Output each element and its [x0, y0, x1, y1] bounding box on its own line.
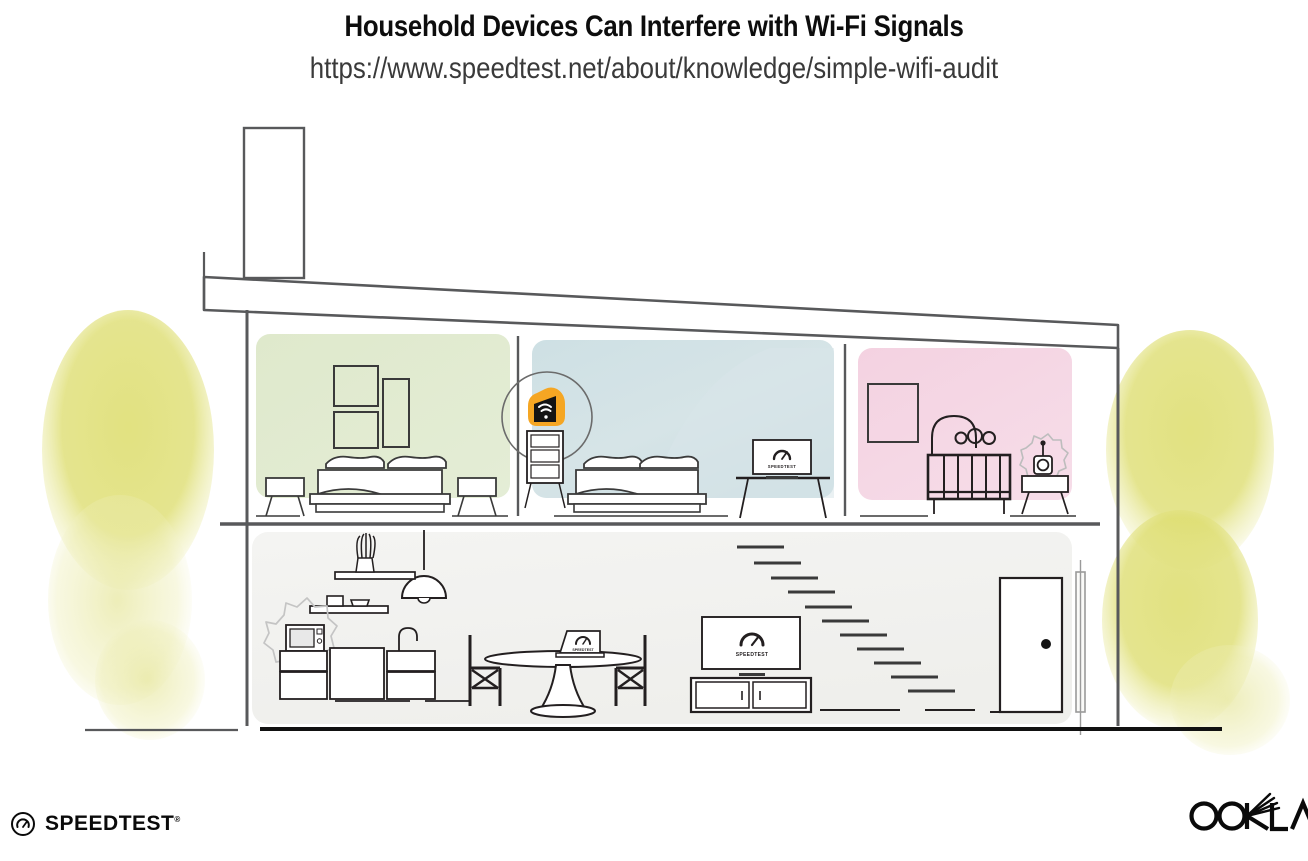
door-knob[interactable]: [1041, 639, 1051, 649]
speedtest-logo: SPEEDTEST®: [10, 811, 181, 837]
bed: [568, 457, 706, 512]
chimney: [244, 128, 304, 278]
foliage-left: [42, 310, 214, 740]
screen-label: SPEEDTEST: [768, 464, 797, 469]
screen-label: SPEEDTEST: [736, 652, 768, 658]
room-ground-floor: SPEEDTEST: [252, 530, 1085, 735]
ookla-logo: [1184, 792, 1308, 839]
room-pink-nursery: [858, 348, 1076, 516]
ookla-logo-mark: [1184, 792, 1308, 834]
bed: [310, 457, 450, 512]
footer: SPEEDTEST®: [0, 791, 1308, 861]
house-cutaway-illustration: SPEEDTEST: [0, 0, 1308, 861]
front-door[interactable]: [990, 578, 1062, 712]
room-blue-bedroom: SPEEDTEST: [502, 340, 845, 518]
screen-label: SPEEDTEST: [572, 648, 594, 652]
microwave[interactable]: [286, 625, 324, 651]
monitor-speedtest[interactable]: SPEEDTEST: [753, 440, 811, 479]
room-green-bedroom: [256, 334, 518, 516]
media-console: [691, 678, 811, 712]
foliage-right: [1102, 330, 1290, 755]
trademark-symbol: ®: [174, 815, 180, 824]
roof: [204, 252, 1118, 348]
speedtest-gauge-icon: [10, 811, 36, 837]
speedtest-wordmark: SPEEDTEST®: [45, 812, 181, 836]
television-speedtest[interactable]: SPEEDTEST: [702, 617, 800, 676]
infographic-canvas: Household Devices Can Interfere with Wi-…: [0, 0, 1308, 861]
kitchen-cabinets: [280, 648, 435, 699]
